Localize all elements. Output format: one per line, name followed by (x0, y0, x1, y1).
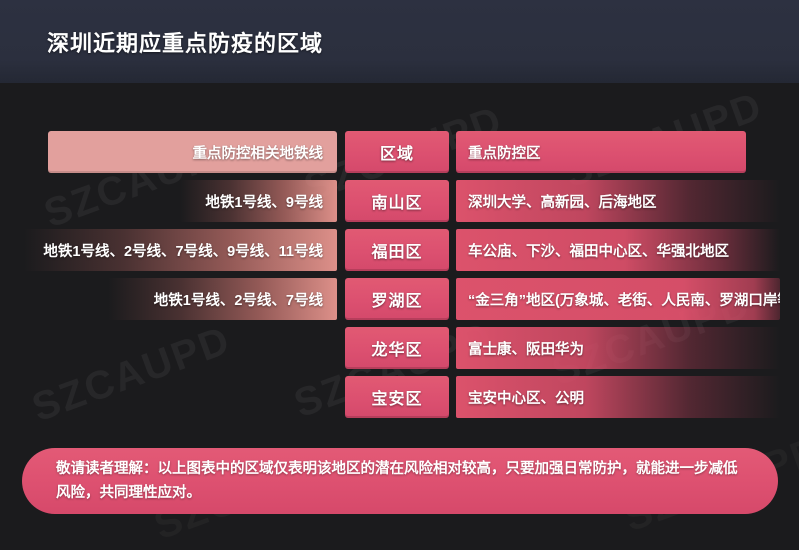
cell-district: 福田区 (345, 229, 449, 271)
header-bar: 深圳近期应重点防疫的区域 (0, 0, 799, 83)
cell-district-text: 南山区 (371, 189, 422, 213)
column-header-zone: 重点防控区 (456, 131, 746, 173)
column-header-subway: 重点防控相关地铁线 (48, 131, 337, 173)
table-row: 地铁1号线、2号线、7号线、9号线、11号线 福田区 车公庙、下沙、福田中心区、… (0, 229, 799, 271)
cell-district: 宝安区 (345, 376, 449, 418)
risk-zone-table: 重点防控相关地铁线 区域 重点防控区 地铁1号线、9号线 南山区 深圳大学、高新… (0, 125, 799, 415)
cell-district-text: 福田区 (371, 238, 422, 262)
cell-zone: 宝安中心区、公明 (456, 376, 780, 418)
cell-zone: 车公庙、下沙、福田中心区、华强北地区 (456, 229, 780, 271)
cell-zone-text: 车公庙、下沙、福田中心区、华强北地区 (468, 240, 729, 261)
table-row: 地铁1号线、2号线、7号线 罗湖区 “金三角”地区(万象城、老街、人民南、罗湖口… (0, 278, 799, 320)
page-title: 深圳近期应重点防疫的区域 (47, 26, 323, 58)
cell-zone-text: 富士康、阪田华为 (468, 338, 584, 359)
column-header-zone-label: 重点防控区 (468, 142, 541, 163)
cell-subway-text: 地铁1号线、2号线、7号线、9号线、11号线 (43, 240, 323, 261)
column-header-district-label: 区域 (380, 140, 414, 164)
cell-district-text: 龙华区 (371, 336, 422, 360)
cell-subway: 地铁1号线、2号线、7号线 (108, 278, 337, 320)
disclaimer-text: 敬请读者理解：以上图表中的区域仅表明该地区的潜在风险相对较高，只要加强日常防护，… (56, 457, 748, 505)
column-header-district: 区域 (345, 131, 449, 173)
cell-zone-text: “金三角”地区(万象城、老街、人民南、罗湖口岸等) (468, 289, 780, 310)
cell-district-text: 宝安区 (371, 385, 422, 409)
cell-district: 龙华区 (345, 327, 449, 369)
cell-subway: 地铁1号线、9号线 (180, 180, 337, 222)
cell-zone: 深圳大学、高新园、后海地区 (456, 180, 780, 222)
cell-zone-text: 深圳大学、高新园、后海地区 (468, 191, 657, 212)
cell-district-text: 罗湖区 (371, 287, 422, 311)
table-row: 宝安区 宝安中心区、公明 (0, 376, 799, 418)
cell-district: 罗湖区 (345, 278, 449, 320)
slide-canvas: 深圳近期应重点防疫的区域 SZCAUPD SZCAUPD SZCAUPD SZC… (0, 0, 799, 550)
disclaimer-note: 敬请读者理解：以上图表中的区域仅表明该地区的潜在风险相对较高，只要加强日常防护，… (22, 448, 778, 514)
cell-zone: 富士康、阪田华为 (456, 327, 780, 369)
table-row: 龙华区 富士康、阪田华为 (0, 327, 799, 369)
table-header-row: 重点防控相关地铁线 区域 重点防控区 (0, 131, 799, 173)
cell-subway: 地铁1号线、2号线、7号线、9号线、11号线 (24, 229, 337, 271)
cell-subway-text: 地铁1号线、9号线 (205, 191, 323, 212)
table-row: 地铁1号线、9号线 南山区 深圳大学、高新园、后海地区 (0, 180, 799, 222)
column-header-subway-label: 重点防控相关地铁线 (193, 142, 324, 163)
cell-district: 南山区 (345, 180, 449, 222)
cell-zone-text: 宝安中心区、公明 (468, 387, 584, 408)
cell-zone: “金三角”地区(万象城、老街、人民南、罗湖口岸等) (456, 278, 780, 320)
cell-subway-text: 地铁1号线、2号线、7号线 (154, 289, 323, 310)
